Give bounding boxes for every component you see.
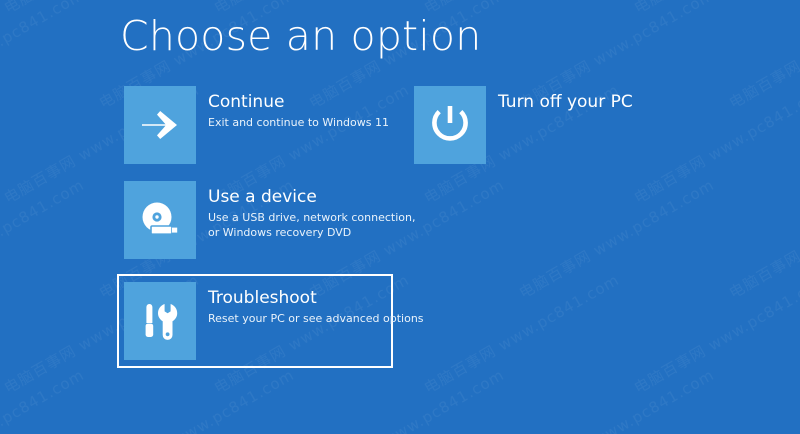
continue-subtitle: Exit and continue to Windows 11 (208, 115, 389, 130)
troubleshoot-text: Troubleshoot Reset your PC or see advanc… (208, 282, 424, 326)
use-a-device-title: Use a device (208, 187, 415, 208)
continue-tile[interactable] (124, 86, 196, 164)
options-list: Continue Exit and continue to Windows 11… (0, 0, 800, 434)
option-turn-off-your-pc[interactable]: Turn off your PC (412, 84, 702, 166)
option-continue[interactable]: Continue Exit and continue to Windows 11 (122, 84, 398, 166)
arrow-right-icon (138, 105, 182, 145)
tools-icon (137, 298, 183, 344)
disc-usb-icon (137, 198, 183, 242)
choose-an-option-screen: 电脑百事网 www.pc841.com电脑百事网 www.pc841.com电脑… (0, 0, 800, 434)
troubleshoot-title: Troubleshoot (208, 288, 424, 309)
turn-off-text: Turn off your PC (498, 86, 633, 113)
turn-off-tile[interactable] (414, 86, 486, 164)
use-a-device-text: Use a device Use a USB drive, network co… (208, 181, 415, 240)
continue-title: Continue (208, 92, 389, 113)
use-a-device-subtitle: Use a USB drive, network connection, or … (208, 210, 415, 240)
troubleshoot-tile[interactable] (124, 282, 196, 360)
troubleshoot-subtitle: Reset your PC or see advanced options (208, 311, 424, 326)
use-a-device-tile[interactable] (124, 181, 196, 259)
continue-text: Continue Exit and continue to Windows 11 (208, 86, 389, 130)
turn-off-title: Turn off your PC (498, 92, 633, 113)
option-troubleshoot[interactable]: Troubleshoot Reset your PC or see advanc… (117, 274, 393, 368)
power-icon (428, 102, 472, 148)
option-use-a-device[interactable]: Use a device Use a USB drive, network co… (122, 179, 398, 261)
